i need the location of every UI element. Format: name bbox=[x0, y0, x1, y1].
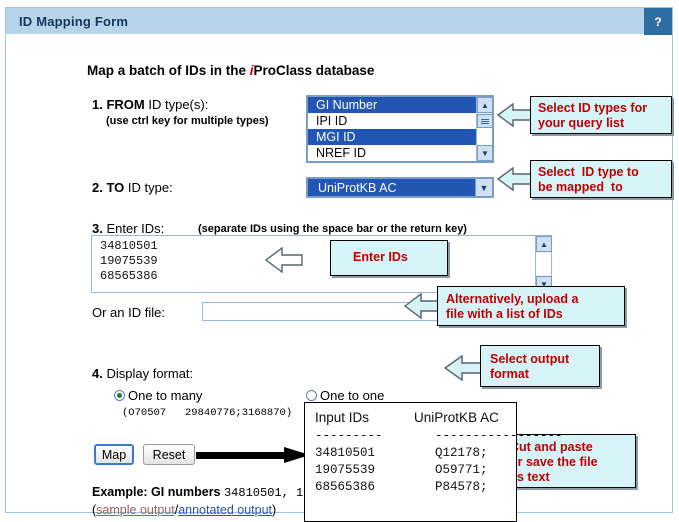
to-id-type-select[interactable]: UniProtKB AC ▼ bbox=[306, 177, 494, 198]
result-rows: 34810501 Q12178; 19075539 O59771; 685653… bbox=[315, 446, 488, 494]
callout-select-to-type: Select ID type to be mapped to bbox=[530, 160, 672, 198]
window-titlebar: ID Mapping Form ? bbox=[6, 8, 672, 35]
flow-arrow-icon bbox=[196, 447, 312, 463]
callout-tail-4 bbox=[444, 352, 484, 384]
textarea-scrollbar[interactable]: ▲ ▼ bbox=[535, 236, 551, 292]
callout-upload-file: Alternatively, upload a file with a list… bbox=[437, 286, 625, 326]
step2-to: TO bbox=[106, 180, 124, 195]
step4-label: 4. Display format: bbox=[92, 366, 193, 381]
heading-post: ProClass database bbox=[254, 63, 375, 78]
callout-text: Enter IDs bbox=[353, 250, 408, 265]
callout-tail-6 bbox=[265, 245, 303, 275]
listbox-scrollbar[interactable]: ▲ ▼ bbox=[476, 97, 492, 161]
callout-text: Alternatively, upload a file with a list… bbox=[446, 292, 578, 322]
scrollbar-track[interactable] bbox=[477, 128, 492, 145]
help-button[interactable]: ? bbox=[644, 8, 672, 35]
step4-text: Display format: bbox=[106, 366, 193, 381]
page-title: ID Mapping Form bbox=[19, 14, 128, 29]
radio-icon-selected[interactable] bbox=[114, 390, 125, 401]
result-divider-left: --------- bbox=[315, 429, 383, 443]
chevron-down-icon[interactable]: ▼ bbox=[475, 179, 492, 196]
result-header-mapped: UniProtKB AC bbox=[414, 410, 499, 425]
callout-tail-2 bbox=[497, 164, 533, 194]
result-panel-content: Input IDs UniProtKB AC --------- -------… bbox=[315, 409, 563, 496]
radio-one-to-many-sample: (O70507 29840776;3168870) bbox=[122, 407, 292, 419]
radio-one-to-many[interactable]: One to many (O70507 29840776;3168870) bbox=[114, 387, 292, 419]
callout-select-id-types: Select ID types for your query list bbox=[530, 96, 672, 134]
radio-one-to-many-label: One to many bbox=[128, 388, 202, 403]
result-divider-right: ----------------- bbox=[435, 429, 563, 443]
from-id-type-listbox[interactable]: GI Number IPI ID MGI ID NREF ID ▲ ▼ bbox=[306, 95, 494, 163]
example-prefix: Example: GI numbers bbox=[92, 485, 224, 499]
step3-hint: (separate IDs using the space bar or the… bbox=[198, 223, 467, 235]
heading-pre: Map a batch of IDs in the bbox=[87, 63, 250, 78]
reset-button[interactable]: Reset bbox=[143, 444, 195, 465]
from-option-ipi-id[interactable]: IPI ID bbox=[308, 113, 492, 129]
from-option-nref-id[interactable]: NREF ID bbox=[308, 145, 492, 161]
map-button[interactable]: Map bbox=[94, 444, 134, 465]
step4-number: 4. bbox=[92, 366, 103, 381]
step1-hint: (use ctrl key for multiple types) bbox=[106, 115, 269, 127]
file-input-label: Or an ID file: bbox=[92, 305, 165, 320]
example-links-line: (sample output/annotated output) bbox=[92, 503, 276, 517]
callout-enter-ids: Enter IDs bbox=[330, 240, 448, 276]
callout-text: Select ID types for your query list bbox=[538, 101, 647, 131]
scroll-up-icon[interactable]: ▲ bbox=[477, 97, 493, 113]
ids-textarea-value: 34810501 19075539 68565386 bbox=[100, 239, 158, 284]
radio-icon-unselected[interactable] bbox=[306, 390, 317, 401]
step1-label: 1. FROM ID type(s): bbox=[92, 97, 208, 112]
scrollbar-track[interactable] bbox=[536, 253, 551, 275]
callout-text: Select output format bbox=[490, 352, 569, 382]
callout-tail-1 bbox=[497, 100, 533, 130]
callout-text: Select ID type to be mapped to bbox=[538, 165, 639, 195]
step3-text: Enter IDs: bbox=[106, 221, 164, 236]
step3-label: 3. Enter IDs: bbox=[92, 221, 164, 236]
step2-label: 2. TO ID type: bbox=[92, 180, 173, 195]
scroll-up-icon[interactable]: ▲ bbox=[536, 236, 552, 252]
to-id-type-value: UniProtKB AC bbox=[318, 181, 397, 195]
radio-one-to-one-label: One to one bbox=[320, 388, 384, 403]
result-header-input: Input IDs bbox=[315, 410, 369, 425]
sample-output-link[interactable]: sample output bbox=[96, 503, 175, 517]
callout-select-output-format: Select output format bbox=[480, 345, 600, 387]
step2-number: 2. bbox=[92, 180, 103, 195]
result-output-panel: Input IDs UniProtKB AC --------- -------… bbox=[304, 402, 517, 522]
ids-textarea[interactable]: 34810501 19075539 68565386 ▲ ▼ bbox=[91, 235, 552, 293]
annotated-output-link[interactable]: annotated output bbox=[178, 503, 272, 517]
from-option-gi-number[interactable]: GI Number bbox=[308, 97, 492, 113]
step3-number: 3. bbox=[92, 221, 103, 236]
step2-rest: ID type: bbox=[124, 180, 172, 195]
scrollbar-thumb[interactable] bbox=[477, 114, 493, 128]
from-option-mgi-id[interactable]: MGI ID bbox=[308, 129, 492, 145]
step1-rest: ID type(s): bbox=[145, 97, 209, 112]
form-heading: Map a batch of IDs in the iProClass data… bbox=[87, 63, 374, 78]
step1-number: 1. bbox=[92, 97, 103, 112]
step1-from: FROM bbox=[106, 97, 144, 112]
paren-close: ) bbox=[272, 503, 276, 517]
scroll-down-icon[interactable]: ▼ bbox=[477, 145, 493, 161]
